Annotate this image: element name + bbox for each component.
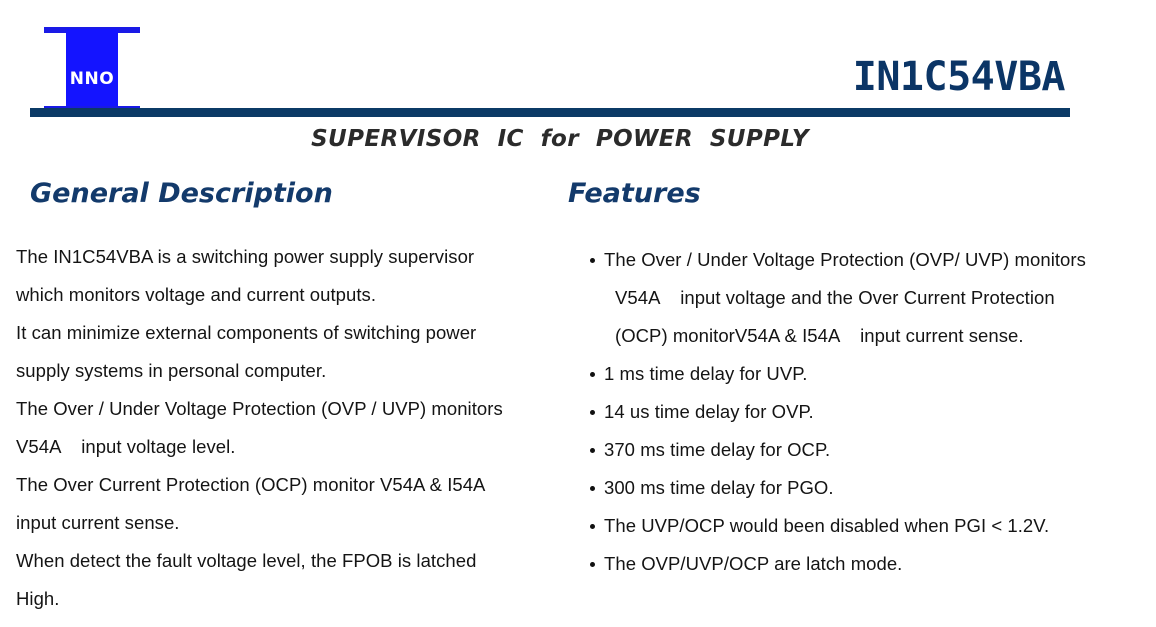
- description-line: When detect the fault voltage level, the…: [16, 542, 576, 580]
- feature-item: 300 ms time delay for PGO.: [590, 469, 1156, 507]
- features-list: The Over / Under Voltage Protection (OVP…: [568, 241, 1156, 583]
- feature-item: The OVP/UVP/OCP are latch mode.: [590, 545, 1156, 583]
- feature-line: 300 ms time delay for PGO.: [604, 469, 1156, 507]
- description-line: V54A input voltage level.: [16, 428, 576, 466]
- feature-line: 14 us time delay for OVP.: [604, 393, 1156, 431]
- feature-line: 1 ms time delay for UVP.: [604, 355, 1156, 393]
- bullet-icon: [590, 258, 595, 263]
- feature-line: 370 ms time delay for OCP.: [604, 431, 1156, 469]
- description-line: which monitors voltage and current outpu…: [16, 276, 576, 314]
- features-heading: Features: [568, 180, 1156, 207]
- document-subtitle: SUPERVISOR IC for POWER SUPPLY: [0, 126, 1120, 152]
- description-line: input current sense.: [16, 504, 576, 542]
- bullet-icon: [590, 524, 595, 529]
- feature-item: 370 ms time delay for OCP.: [590, 431, 1156, 469]
- description-line: The Over / Under Voltage Protection (OVP…: [16, 390, 576, 428]
- features-column: Features The Over / Under Voltage Protec…: [568, 180, 1156, 583]
- general-description-body: The IN1C54VBA is a switching power suppl…: [16, 238, 576, 618]
- feature-line: The Over / Under Voltage Protection (OVP…: [604, 241, 1156, 279]
- feature-line: V54A input voltage and the Over Current …: [604, 279, 1156, 317]
- part-number-title: IN1C54VBA: [0, 57, 1065, 97]
- feature-item: 1 ms time delay for UVP.: [590, 355, 1156, 393]
- general-description-heading: General Description: [16, 180, 576, 207]
- feature-item: 14 us time delay for OVP.: [590, 393, 1156, 431]
- description-line: The IN1C54VBA is a switching power suppl…: [16, 238, 576, 276]
- bullet-icon: [590, 448, 595, 453]
- feature-line: The OVP/UVP/OCP are latch mode.: [604, 545, 1156, 583]
- description-line: It can minimize external components of s…: [16, 314, 576, 352]
- description-line: High.: [16, 580, 576, 618]
- bullet-icon: [590, 372, 595, 377]
- feature-item: The UVP/OCP would been disabled when PGI…: [590, 507, 1156, 545]
- document-header: NNO IN1C54VBA: [0, 0, 1156, 118]
- feature-item: The Over / Under Voltage Protection (OVP…: [590, 241, 1156, 355]
- description-line: The Over Current Protection (OCP) monito…: [16, 466, 576, 504]
- header-divider-rule: [30, 108, 1070, 117]
- general-description-column: General Description The IN1C54VBA is a s…: [16, 180, 576, 618]
- feature-line: The UVP/OCP would been disabled when PGI…: [604, 507, 1156, 545]
- bullet-icon: [590, 410, 595, 415]
- bullet-icon: [590, 486, 595, 491]
- feature-line: (OCP) monitorV54A & I54A input current s…: [604, 317, 1156, 355]
- bullet-icon: [590, 562, 595, 567]
- description-line: supply systems in personal computer.: [16, 352, 576, 390]
